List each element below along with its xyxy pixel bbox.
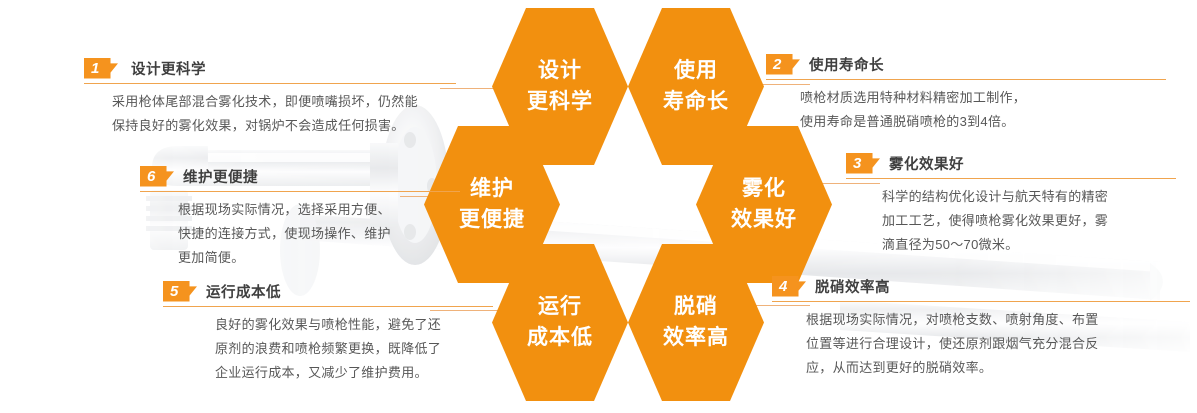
feature-3-body-line-2: 加工工艺，使得喷枪雾化效果更好，雾 <box>882 209 1176 233</box>
hexagon-denitration-line1: 脱硝 <box>674 292 718 322</box>
feature-3-body-line-1: 科学的结构优化设计与航天特有的精密 <box>882 185 1176 209</box>
hexagon-operating-cost-line2: 成本低 <box>527 323 593 353</box>
feature-4-divider <box>772 301 1190 302</box>
infographic-canvas: 设计 更科学 使用 寿命长 维护 更便捷 雾化 效果好 运行 成本低 脱硝 效率… <box>0 0 1197 413</box>
feature-3-header: 3 雾化效果好 <box>846 152 1176 174</box>
feature-block-1: 1 设计更科学 采用枪体尾部混合雾化技术，即便喷嘴损坏，仍然能 保持良好的雾化效… <box>84 57 456 138</box>
feature-2-title: 使用寿命长 <box>809 54 884 75</box>
feature-4-header: 4 脱硝效率高 <box>772 275 1190 297</box>
feature-1-body-line-2: 保持良好的雾化效果，对锅炉不会造成任何损害。 <box>112 114 456 138</box>
feature-1-divider <box>84 83 456 84</box>
feature-block-4: 4 脱硝效率高 根据现场实际情况，对喷枪支数、喷射角度、布置 位置等进行合理设计… <box>772 275 1190 380</box>
feature-1-header: 1 设计更科学 <box>84 57 456 79</box>
feature-2-number-badge: 2 <box>766 54 800 75</box>
hexagon-operating-cost-line1: 运行 <box>538 292 582 322</box>
feature-4-body-line-3: 应，从而达到更好的脱硝效率。 <box>806 356 1190 380</box>
feature-block-2: 2 使用寿命长 喷枪材质选用特种材料精密加工制作， 使用寿命是普通脱硝喷枪的3到… <box>766 53 1166 134</box>
hexagon-atomization-line2: 效果好 <box>731 205 797 235</box>
feature-6-divider <box>140 191 460 192</box>
hexagon-design-line2: 更科学 <box>527 87 593 117</box>
hexagon-denitration-line2: 效率高 <box>663 323 729 353</box>
feature-1-body: 采用枪体尾部混合雾化技术，即便喷嘴损坏，仍然能 保持良好的雾化效果，对锅炉不会造… <box>84 90 456 138</box>
feature-3-title: 雾化效果好 <box>889 153 964 174</box>
feature-1-body-line-1: 采用枪体尾部混合雾化技术，即便喷嘴损坏，仍然能 <box>112 90 456 114</box>
feature-6-body: 根据现场实际情况，选择采用方便、 快捷的连接方式，使现场操作、维护 更加简便。 <box>140 198 460 270</box>
feature-4-number-badge: 4 <box>772 276 806 297</box>
feature-5-divider <box>163 306 493 307</box>
feature-6-title: 维护更便捷 <box>183 166 258 187</box>
feature-block-3: 3 雾化效果好 科学的结构优化设计与航天特有的精密 加工工艺，使得喷枪雾化效果更… <box>846 152 1176 257</box>
hexagon-lifespan-line2: 寿命长 <box>663 87 729 117</box>
feature-5-body: 良好的雾化效果与喷枪性能，避免了还 原剂的浪费和喷枪频繁更换，既降低了 企业运行… <box>163 313 493 385</box>
feature-6-header: 6 维护更便捷 <box>140 165 460 187</box>
feature-6-body-line-1: 根据现场实际情况，选择采用方便、 <box>178 198 460 222</box>
hexagon-maintenance-line2: 更便捷 <box>459 205 525 235</box>
feature-6-number-badge: 6 <box>140 166 174 187</box>
feature-5-number-badge: 5 <box>163 281 197 302</box>
feature-block-5: 5 运行成本低 良好的雾化效果与喷枪性能，避免了还 原剂的浪费和喷枪频繁更换，既… <box>163 280 493 385</box>
hexagon-lifespan-line1: 使用 <box>674 56 718 86</box>
feature-2-header: 2 使用寿命长 <box>766 53 1166 75</box>
feature-3-divider <box>846 178 1176 179</box>
feature-3-body-line-3: 滴直径为50～70微米。 <box>882 233 1176 257</box>
hexagon-atomization-line1: 雾化 <box>742 174 786 204</box>
feature-2-body: 喷枪材质选用特种材料精密加工制作， 使用寿命是普通脱硝喷枪的3到4倍。 <box>766 86 1166 134</box>
feature-2-body-line-1: 喷枪材质选用特种材料精密加工制作， <box>800 86 1166 110</box>
feature-5-title: 运行成本低 <box>206 281 281 302</box>
feature-1-number-badge: 1 <box>84 58 118 79</box>
hexagon-maintenance-line1: 维护 <box>470 174 514 204</box>
feature-5-body-line-2: 原剂的浪费和喷枪频繁更换，既降低了 <box>215 337 493 361</box>
feature-5-body-line-3: 企业运行成本，又减少了维护费用。 <box>215 361 493 385</box>
feature-4-body-line-1: 根据现场实际情况，对喷枪支数、喷射角度、布置 <box>806 308 1190 332</box>
feature-2-body-line-2: 使用寿命是普通脱硝喷枪的3到4倍。 <box>800 110 1166 134</box>
feature-3-body: 科学的结构优化设计与航天特有的精密 加工工艺，使得喷枪雾化效果更好，雾 滴直径为… <box>846 185 1176 257</box>
feature-5-body-line-1: 良好的雾化效果与喷枪性能，避免了还 <box>215 313 493 337</box>
feature-4-body-line-2: 位置等进行合理设计，使还原剂跟烟气充分混合反 <box>806 332 1190 356</box>
feature-4-body: 根据现场实际情况，对喷枪支数、喷射角度、布置 位置等进行合理设计，使还原剂跟烟气… <box>772 308 1190 380</box>
feature-6-body-line-3: 更加简便。 <box>178 246 460 270</box>
feature-1-title: 设计更科学 <box>131 58 206 79</box>
hexagon-design-line1: 设计 <box>538 56 582 86</box>
feature-3-number-badge: 3 <box>846 153 880 174</box>
feature-6-body-line-2: 快捷的连接方式，使现场操作、维护 <box>178 222 460 246</box>
feature-2-divider <box>766 79 1166 80</box>
feature-block-6: 6 维护更便捷 根据现场实际情况，选择采用方便、 快捷的连接方式，使现场操作、维… <box>140 165 460 270</box>
feature-5-header: 5 运行成本低 <box>163 280 493 302</box>
feature-4-title: 脱硝效率高 <box>815 276 890 297</box>
